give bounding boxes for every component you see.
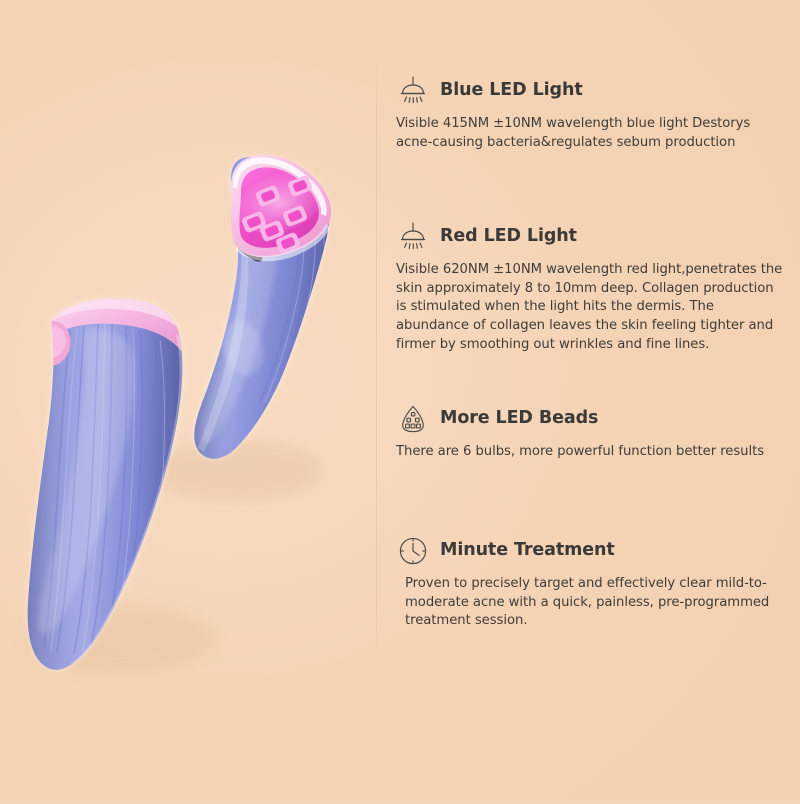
feature-header: Blue LED Light	[396, 74, 788, 108]
device-led-panel-glow	[230, 163, 331, 243]
upper-device-sheen	[200, 200, 278, 444]
pendant-lamp-icon	[396, 74, 430, 108]
feature-description: Visible 415NM ±10NM wavelength blue ligh…	[396, 115, 788, 152]
led-bead	[287, 174, 313, 197]
pendant-lamp-icon	[396, 220, 430, 254]
led-bead	[259, 219, 285, 242]
clock-icon	[396, 534, 430, 568]
feature-header: Red LED Light	[396, 220, 788, 254]
lower-device-edge-light	[70, 334, 184, 664]
led-bead	[241, 210, 267, 233]
device-panel-rim	[231, 155, 331, 257]
upper-device-vent-slot-inner	[237, 241, 259, 257]
lower-device-power-button-highlight	[39, 325, 66, 358]
feature-description: There are 6 bulbs, more powerful functio…	[396, 443, 788, 462]
feature-title: Red LED Light	[440, 228, 577, 246]
lower-device-sheen	[38, 329, 135, 635]
infographic-canvas: Blue LED Light Visible 415NM ±10NM wavel…	[0, 0, 800, 800]
lower-device-shading	[20, 290, 190, 690]
device-led-beads	[241, 174, 313, 254]
lower-device-shadow	[24, 606, 216, 674]
device-panel-rim-highlight	[233, 157, 327, 216]
lower-device-grip-ribs	[44, 324, 172, 654]
upper-device-body	[194, 156, 329, 458]
upper-device-glow	[194, 156, 329, 458]
upper-device-edge-light	[198, 194, 248, 452]
lower-device-power-button	[36, 321, 70, 366]
feature-title: More LED Beads	[440, 410, 598, 428]
led-bead	[282, 204, 308, 227]
column-divider	[376, 58, 377, 654]
device-lower	[20, 289, 190, 690]
feature-title: Blue LED Light	[440, 82, 583, 100]
upper-device-bump-highlight	[216, 316, 270, 381]
led-bead	[255, 184, 281, 207]
device-upper	[185, 150, 340, 470]
upper-device-shadow	[150, 440, 322, 500]
lower-device-cap-highlight	[51, 292, 183, 330]
feature-header: Minute Treatment	[396, 534, 788, 568]
lower-device-cap-rim	[50, 289, 186, 352]
feature-item-red-led-light[interactable]: Red LED Light Visible 620NM ±10NM wavele…	[396, 220, 788, 355]
lower-device-body	[28, 299, 183, 670]
feature-item-minute-treatment[interactable]: Minute Treatment Proven to precisely tar…	[396, 534, 788, 631]
upper-device-rib-highlights	[265, 198, 324, 402]
led-bead-panel-icon	[396, 402, 430, 436]
feature-description: Visible 620NM ±10NM wavelength red light…	[396, 261, 788, 355]
feature-header: More LED Beads	[396, 402, 788, 436]
feature-title: Minute Treatment	[440, 542, 615, 560]
upper-device-ribs	[260, 196, 327, 404]
lower-device-glow	[28, 299, 183, 670]
device-led-panel	[239, 167, 318, 247]
upper-device-shading	[185, 150, 340, 470]
feature-item-blue-led-light[interactable]: Blue LED Light Visible 415NM ±10NM wavel…	[396, 74, 788, 152]
device-panel-rim-lowlight	[236, 224, 330, 261]
feature-item-more-led-beads[interactable]: More LED Beads There are 6 bulbs, more p…	[396, 402, 788, 462]
led-bead	[275, 231, 301, 254]
feature-list: Blue LED Light Visible 415NM ±10NM wavel…	[376, 0, 800, 800]
lower-device-grip-highlights	[51, 324, 165, 654]
upper-device-vent-slot	[234, 239, 262, 262]
feature-description: Proven to precisely target and effective…	[396, 575, 788, 631]
